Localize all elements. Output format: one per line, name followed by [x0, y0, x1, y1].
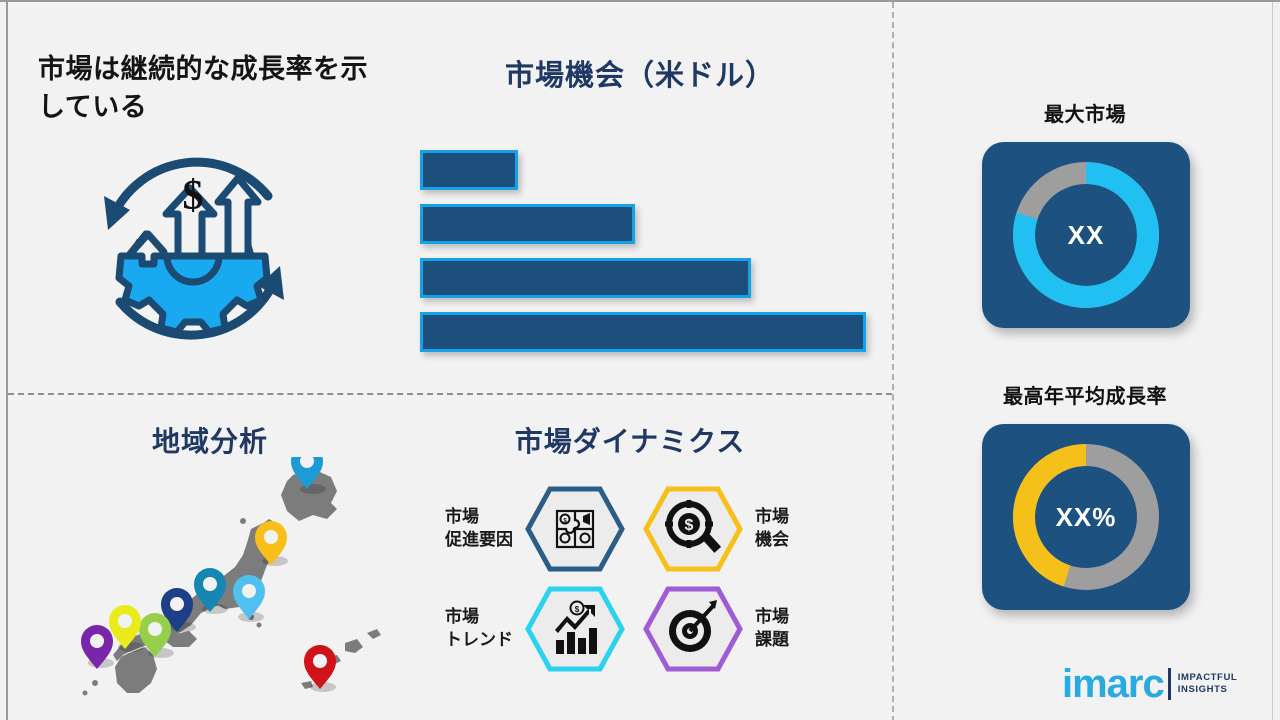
opportunity-bar-chart: [420, 150, 880, 350]
slide-canvas: 市場は継続的な成長率を示している: [0, 0, 1280, 720]
growth-cycle-gear-icon: $: [78, 134, 308, 362]
logo-divider: [1168, 668, 1171, 700]
dynamics-item-challenges[interactable]: 市場 課題: [643, 584, 863, 674]
japan-map: [55, 457, 405, 707]
svg-text:$: $: [575, 605, 580, 614]
dynamics-label-drivers: 市場 促進要因: [445, 506, 513, 552]
left-edge-rule: [6, 2, 8, 720]
right-edge-rule: [1272, 2, 1273, 720]
bar-3: [420, 258, 751, 298]
horizontal-dashed-divider: [8, 393, 892, 395]
donut-title-largest-market: 最大市場: [945, 98, 1225, 127]
bar-1: [420, 150, 518, 190]
donut-chart-largest-market: [982, 142, 1190, 328]
donut-card-highest-cagr: XX%: [982, 424, 1190, 610]
logo-tagline: IMPACTFUL INSIGHTS: [1178, 672, 1238, 696]
bar-4: [420, 312, 866, 352]
target-dart-icon: [643, 586, 743, 672]
dynamics-title: 市場ダイナミクス: [410, 420, 850, 460]
vertical-dashed-divider: [892, 2, 894, 720]
opportunity-title: 市場機会（米ドル）: [420, 52, 860, 94]
dynamics-item-trends[interactable]: 市場 トレンド $: [405, 584, 625, 674]
growth-bar-chart-icon: $: [525, 586, 625, 672]
dynamics-item-drivers[interactable]: 市場 促進要因 $: [405, 484, 625, 574]
magnifier-dollar-icon: $: [643, 486, 743, 572]
dynamics-label-challenges: 市場 課題: [755, 606, 789, 652]
puzzle-pieces-icon: $: [525, 486, 625, 572]
region-title: 地域分析: [60, 420, 360, 460]
donut-card-largest-market: XX: [982, 142, 1190, 328]
dynamics-label-opportunities: 市場 機会: [755, 506, 789, 552]
donut-chart-highest-cagr: [982, 424, 1190, 610]
bar-2: [420, 204, 635, 244]
dynamics-grid: 市場 促進要因 $: [405, 484, 850, 684]
dynamics-item-opportunities[interactable]: $ 市場 機会: [643, 484, 863, 574]
svg-text:$: $: [685, 517, 694, 534]
dynamics-label-trends: 市場 トレンド: [445, 606, 513, 652]
logo-wordmark: imarc: [1062, 664, 1164, 704]
imarc-logo: imarc IMPACTFUL INSIGHTS: [1062, 664, 1237, 704]
growth-title: 市場は継続的な成長率を示している: [38, 50, 388, 127]
dollar-sign-label: $: [183, 173, 204, 219]
donut-title-highest-cagr: 最高年平均成長率: [945, 380, 1225, 409]
